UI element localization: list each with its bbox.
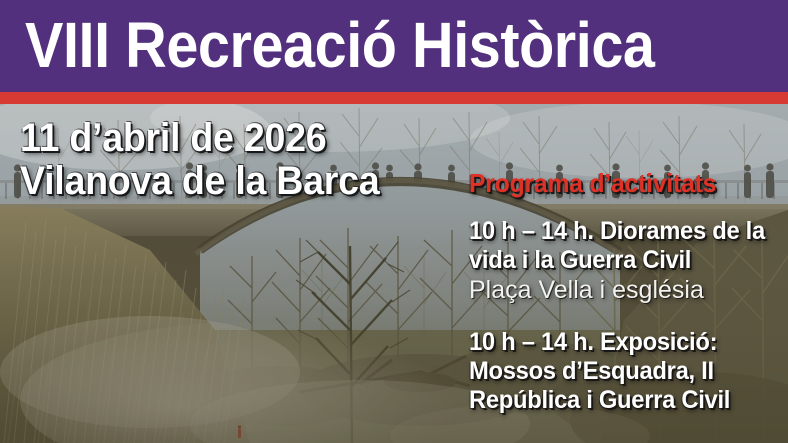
event-date: 11 d’abril de 2026 <box>20 117 379 160</box>
programme-item: 10 h – 14 h. Diorames de la vida i la Gu… <box>469 217 784 306</box>
poster-root: VIII Recreació Històrica 11 d’abril de 2… <box>0 0 788 443</box>
title-banner: VIII Recreació Històrica <box>0 0 788 92</box>
programme-item-heading: 10 h – 14 h. Diorames de la vida i la Gu… <box>469 217 768 275</box>
programme-panel: Programa d’activitats 10 h – 14 h. Diora… <box>469 168 784 437</box>
programme-heading: Programa d’activitats <box>469 168 768 198</box>
programme-item-venue: Plaça Vella i església <box>469 275 784 306</box>
event-location: Vilanova de la Barca <box>20 160 379 203</box>
page-title: VIII Recreació Històrica <box>25 12 654 78</box>
programme-item: 10 h – 14 h. Exposició: Mossos d’Esquadr… <box>469 328 784 415</box>
programme-item-heading: 10 h – 14 h. Exposició: Mossos d’Esquadr… <box>469 328 768 415</box>
red-divider-rule <box>0 92 788 104</box>
event-details: 11 d’abril de 2026 Vilanova de la Barca <box>20 117 402 203</box>
